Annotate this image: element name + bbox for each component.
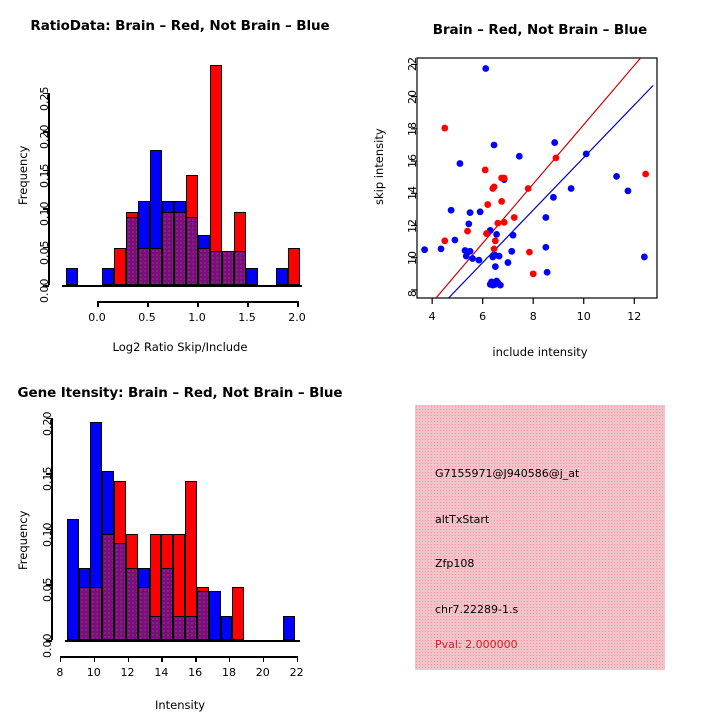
x-axis-tick-label: 2.0: [288, 311, 306, 324]
scatter-point: [642, 171, 649, 178]
histogram-bar-overlap: [234, 251, 246, 285]
scatter-point: [484, 201, 491, 208]
histogram-bar-overlap: [174, 212, 186, 285]
scatter-point: [516, 153, 523, 160]
histogram-bar-overlap: [198, 248, 210, 285]
scatter-point: [451, 237, 458, 244]
x-axis-tick-label: 20: [256, 666, 270, 679]
scatter-trend-line: [449, 85, 654, 298]
gene-histogram-title: Gene Itensity: Brain – Red, Not Brain – …: [0, 385, 360, 401]
panel-gene-info: G7155971@J940586@j_at altTxStart Zfp108 …: [360, 360, 720, 720]
scatter-point: [525, 185, 532, 192]
histogram-bar-red: [232, 587, 244, 640]
scatter-point: [491, 245, 498, 252]
histogram-bar-overlap: [138, 587, 150, 640]
scatter-canvas: [360, 0, 720, 360]
scatter-point: [542, 214, 549, 221]
histogram-bar-overlap: [150, 248, 162, 285]
scatter-point: [583, 150, 590, 157]
scatter-point: [482, 167, 489, 174]
scatter-point: [464, 228, 471, 235]
scatter-point: [553, 154, 560, 161]
x-axis-tick: [247, 301, 249, 307]
scatter-point: [492, 263, 499, 270]
info-gene-symbol: Zfp108: [435, 557, 474, 570]
scatter-point: [505, 259, 512, 266]
scatter-point: [496, 253, 503, 260]
x-axis-tick: [128, 656, 130, 662]
scatter-plot-frame: [417, 58, 657, 298]
scatter-point: [568, 185, 575, 192]
scatter-point: [501, 219, 508, 226]
y-axis-tick-label: 0.10: [41, 522, 54, 547]
y-axis-tick-label: 0.10: [38, 202, 51, 227]
x-axis-tick: [263, 656, 265, 662]
histogram-bar-blue: [66, 268, 78, 285]
scatter-point: [551, 139, 558, 146]
scatter-point: [613, 173, 620, 180]
x-axis-tick: [94, 656, 96, 662]
scatter-point: [489, 282, 496, 289]
gene-histogram-ylabel: Frequency: [16, 511, 30, 570]
y-axis-tick-label: 0.25: [38, 86, 51, 111]
histogram-bar-red: [114, 248, 126, 285]
scatter-point: [448, 207, 455, 214]
x-axis-tick-label: 10: [87, 666, 101, 679]
scatter-point: [511, 214, 518, 221]
histogram-bar-overlap: [197, 591, 209, 640]
panel-gene-histogram: Gene Itensity: Brain – Red, Not Brain – …: [0, 360, 360, 720]
scatter-point: [477, 208, 484, 215]
histogram-bar-blue: [102, 268, 114, 285]
scatter-point: [641, 254, 648, 261]
x-axis-tick: [195, 656, 197, 662]
x-axis-tick: [197, 301, 199, 307]
info-probe-id: G7155971@J940586@j_at: [435, 467, 579, 480]
scatter-point: [467, 209, 474, 216]
histogram-bar-overlap: [186, 217, 198, 285]
histogram-bar-overlap: [79, 587, 91, 640]
y-axis-tick-label: 0.05: [41, 578, 54, 603]
histogram-bar-overlap: [222, 251, 234, 285]
scatter-point: [510, 232, 517, 239]
ratio-histogram-xlabel: Log2 Ratio Skip/Include: [0, 340, 360, 354]
scatter-point: [491, 142, 498, 149]
y-axis-tick-label: 0.15: [41, 467, 54, 492]
x-axis-line: [60, 656, 297, 658]
x-axis-tick: [60, 656, 62, 662]
scatter-trend-line: [436, 58, 641, 298]
histogram-bar-overlap: [114, 543, 126, 640]
scatter-point: [508, 248, 515, 255]
x-axis-tick-label: 14: [154, 666, 168, 679]
x-axis-tick-label: 16: [188, 666, 202, 679]
histogram-bar-overlap: [161, 568, 173, 640]
y-axis-tick-label: 0.20: [38, 125, 51, 150]
x-axis-tick: [161, 656, 163, 662]
histogram-bar-red: [288, 248, 300, 285]
scatter-point: [493, 231, 500, 238]
info-coordinate: chr7.22289-1.s: [435, 603, 518, 616]
scatter-point: [465, 221, 472, 228]
histogram-bar-overlap: [173, 616, 185, 640]
histogram-bar-overlap: [102, 534, 114, 640]
scatter-point: [441, 125, 448, 132]
scatter-point: [438, 245, 445, 252]
y-axis-tick-label: 0.00: [41, 634, 54, 659]
panel-ratio-histogram: RatioData: Brain – Red, Not Brain – Blue…: [0, 0, 360, 360]
info-event-type: altTxStart: [435, 513, 489, 526]
scatter-point: [550, 194, 557, 201]
x-axis-tick-label: 22: [290, 666, 304, 679]
histogram-bar-blue: [276, 268, 288, 285]
x-axis-tick: [97, 301, 99, 307]
x-axis-tick: [147, 301, 149, 307]
scatter-point: [501, 175, 508, 182]
x-axis-tick-label: 1.0: [188, 311, 206, 324]
histogram-bar-overlap: [150, 616, 162, 640]
histogram-bar-blue: [209, 591, 221, 640]
scatter-point: [463, 253, 470, 260]
info-pval: Pval: 2.000000: [435, 638, 518, 651]
figure-canvas: RatioData: Brain – Red, Not Brain – Blue…: [0, 0, 720, 720]
x-axis-tick-label: 0.0: [88, 311, 106, 324]
histogram-bar-overlap: [210, 251, 222, 285]
x-axis-tick-label: 0.5: [138, 311, 156, 324]
histogram-baseline: [65, 640, 300, 642]
y-axis-tick-label: 0.15: [38, 163, 51, 188]
scatter-point: [457, 160, 464, 167]
y-axis-tick-label: 0.00: [38, 279, 51, 304]
scatter-point: [625, 187, 632, 194]
x-axis-tick-label: 1.5: [238, 311, 256, 324]
scatter-point: [441, 237, 448, 244]
histogram-baseline: [62, 285, 302, 287]
histogram-bar-blue: [67, 519, 79, 640]
y-axis-tick-label: 0.05: [38, 240, 51, 265]
scatter-point: [421, 246, 428, 253]
scatter-point: [526, 249, 533, 256]
x-axis-tick: [229, 656, 231, 662]
histogram-bar-blue: [221, 616, 233, 640]
histogram-bar-overlap: [126, 217, 138, 285]
scatter-point: [530, 270, 537, 277]
x-axis-tick-label: 8: [56, 666, 63, 679]
gene-info-box: G7155971@J940586@j_at altTxStart Zfp108 …: [415, 405, 665, 670]
histogram-bar-blue: [283, 616, 295, 640]
scatter-point: [494, 220, 501, 227]
histogram-bar-overlap: [138, 248, 150, 285]
scatter-point: [544, 269, 551, 276]
x-axis-tick-label: 18: [222, 666, 236, 679]
histogram-bar-overlap: [126, 568, 138, 640]
histogram-bar-overlap: [185, 616, 197, 640]
histogram-bar-blue: [246, 268, 258, 285]
panel-scatter: Brain – Red, Not Brain – Blue skip inten…: [360, 0, 720, 360]
gene-histogram-xlabel: Intensity: [0, 698, 360, 712]
y-axis-tick-label: 0.20: [41, 411, 54, 436]
histogram-bar-overlap: [162, 212, 174, 285]
scatter-point: [492, 237, 499, 244]
scatter-point: [469, 255, 476, 262]
scatter-point: [491, 183, 498, 190]
ratio-histogram-ylabel: Frequency: [16, 146, 30, 205]
scatter-point: [482, 65, 489, 72]
scatter-point: [542, 244, 549, 251]
x-axis-tick: [297, 656, 299, 662]
x-axis-tick: [297, 301, 299, 307]
x-axis-tick-label: 12: [121, 666, 135, 679]
scatter-point: [483, 230, 490, 237]
scatter-point: [498, 198, 505, 205]
scatter-point: [489, 254, 496, 261]
histogram-bar-overlap: [90, 587, 102, 640]
scatter-point: [475, 257, 482, 264]
ratio-histogram-title: RatioData: Brain – Red, Not Brain – Blue: [0, 18, 360, 34]
